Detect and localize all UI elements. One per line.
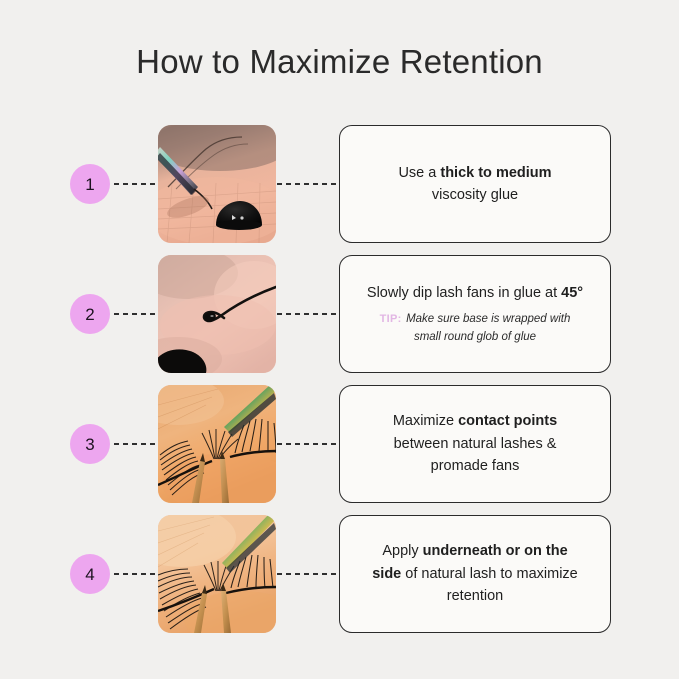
tip-text-line-1: Make sure base is wrapped with bbox=[406, 313, 570, 325]
step-text-line: retention bbox=[447, 585, 503, 607]
step-text-line: side of natural lash to maximize bbox=[372, 563, 578, 585]
step-photo-2 bbox=[158, 255, 276, 373]
tip-text-line-2: small round glob of glue bbox=[380, 329, 571, 346]
line-prefix: Maximize bbox=[393, 413, 458, 429]
connector-photo-to-card-2 bbox=[277, 313, 339, 315]
step-card-2: Slowly dip lash fans in glue at 45° TIP:… bbox=[339, 255, 611, 373]
line-bold: contact points bbox=[458, 413, 557, 429]
line-prefix: retention bbox=[447, 588, 503, 604]
step-text-line: promade fans bbox=[431, 455, 520, 477]
tip-label: TIP: bbox=[380, 313, 402, 325]
step-photo-4 bbox=[158, 515, 276, 633]
step-text-line: viscosity glue bbox=[432, 184, 518, 206]
step-photo-1 bbox=[158, 125, 276, 243]
step-card-3: Maximize contact points between natural … bbox=[339, 385, 611, 503]
connector-badge-to-photo-1 bbox=[114, 183, 158, 185]
connector-photo-to-card-4 bbox=[277, 573, 339, 575]
line-bold: thick to medium bbox=[440, 165, 551, 181]
line-prefix: Slowly dip lash fans in glue at bbox=[367, 285, 561, 301]
step-photo-3 bbox=[158, 385, 276, 503]
step-text-line: Slowly dip lash fans in glue at 45° bbox=[367, 282, 583, 304]
connector-badge-to-photo-3 bbox=[114, 443, 158, 445]
connector-photo-to-card-3 bbox=[277, 443, 339, 445]
step-row-2: 2 bbox=[0, 255, 679, 373]
line-bold: 45° bbox=[561, 285, 583, 301]
step-tip: TIP: Make sure base is wrapped with smal… bbox=[380, 309, 571, 346]
step-text-line: Use a thick to medium bbox=[398, 162, 551, 184]
tweezers-attaching-fan-to-natural-lashes-icon bbox=[158, 385, 276, 503]
step-number-badge-1: 1 bbox=[70, 164, 110, 204]
line-bold: underneath or on the bbox=[423, 543, 568, 559]
step-text-line: Apply underneath or on the bbox=[382, 540, 567, 562]
step-text-line: between natural lashes & bbox=[394, 433, 557, 455]
step-card-4: Apply underneath or on the side of natur… bbox=[339, 515, 611, 633]
step-number-badge-3: 3 bbox=[70, 424, 110, 464]
step-number-label: 4 bbox=[85, 566, 94, 583]
line-prefix: viscosity glue bbox=[432, 187, 518, 203]
step-number-label: 1 bbox=[85, 176, 94, 193]
line-prefix: between natural lashes & bbox=[394, 436, 557, 452]
step-number-badge-2: 2 bbox=[70, 294, 110, 334]
connector-photo-to-card-1 bbox=[277, 183, 339, 185]
line-prefix: promade fans bbox=[431, 458, 520, 474]
step-number-label: 3 bbox=[85, 436, 94, 453]
step-row-3: 3 bbox=[0, 385, 679, 503]
tip-first-line: TIP: Make sure base is wrapped with bbox=[380, 309, 571, 328]
connector-badge-to-photo-4 bbox=[114, 573, 158, 575]
connector-badge-to-photo-2 bbox=[114, 313, 158, 315]
lash-fan-dipped-in-glue-at-angle-icon bbox=[158, 255, 276, 373]
step-row-4: 4 bbox=[0, 515, 679, 633]
step-number-badge-4: 4 bbox=[70, 554, 110, 594]
line-prefix: Apply bbox=[382, 543, 422, 559]
line-prefix: Use a bbox=[398, 165, 440, 181]
infographic-root: How to Maximize Retention 1 bbox=[0, 0, 679, 679]
step-text-line: Maximize contact points bbox=[393, 410, 557, 432]
step-row-1: 1 bbox=[0, 125, 679, 243]
tweezers-lash-fan-and-black-glue-drop-on-skin-icon bbox=[158, 125, 276, 243]
step-card-1: Use a thick to medium viscosity glue bbox=[339, 125, 611, 243]
step-number-label: 2 bbox=[85, 306, 94, 323]
fan-applied-underneath-natural-lash-icon bbox=[158, 515, 276, 633]
page-title: How to Maximize Retention bbox=[0, 42, 679, 82]
line-suffix: of natural lash to maximize bbox=[401, 566, 578, 582]
line-bold: side bbox=[372, 566, 401, 582]
